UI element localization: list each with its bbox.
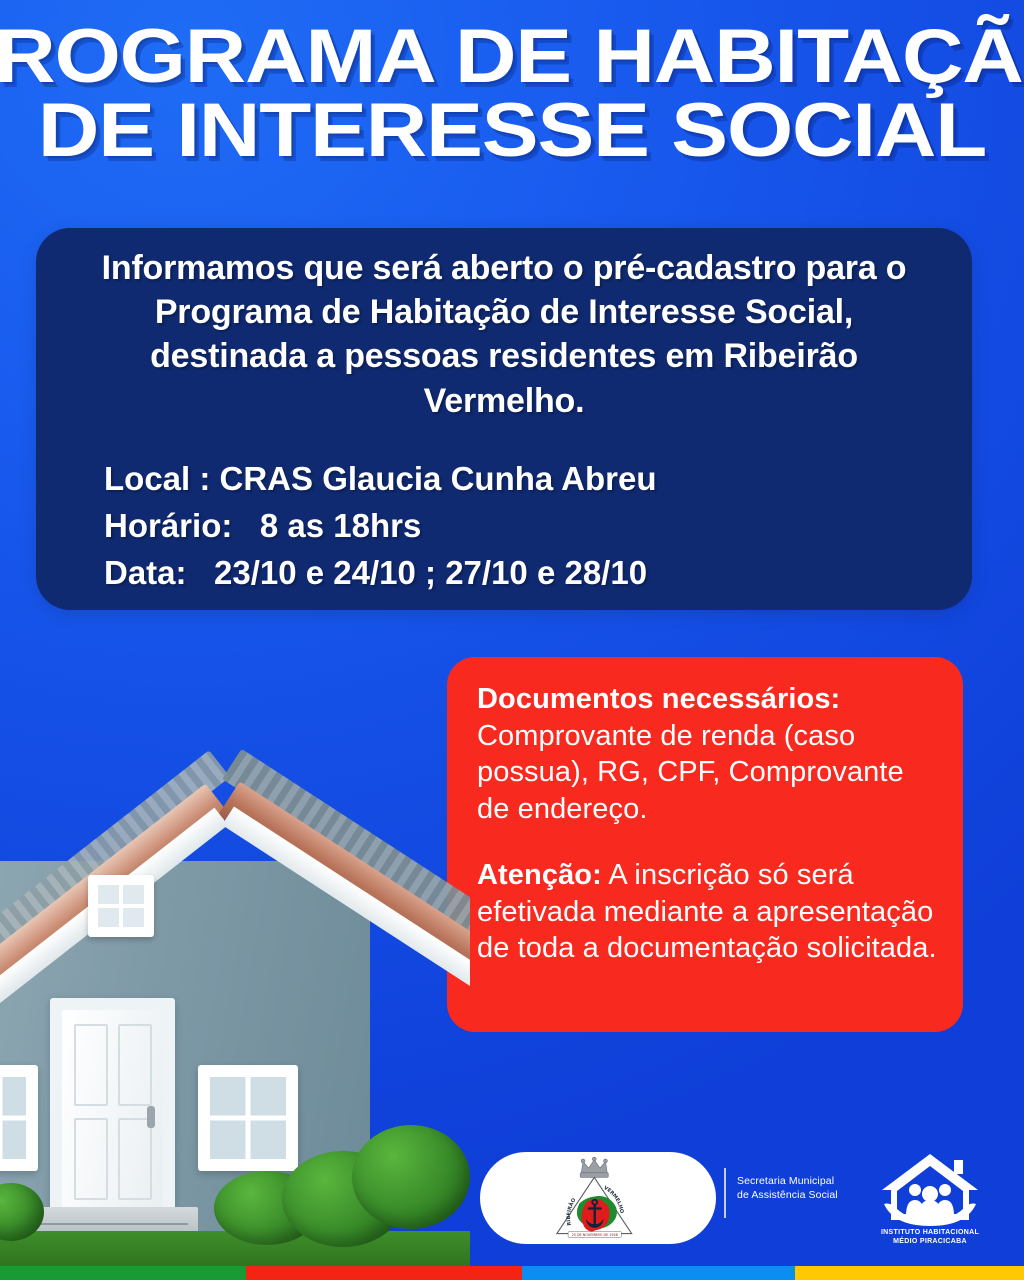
notice-detail-local: Local : CRAS Glaucia Cunha Abreu bbox=[104, 456, 944, 503]
documents-card-content: Documentos necessários: Comprovante de r… bbox=[477, 681, 939, 967]
attention-heading: Atenção: bbox=[477, 859, 602, 891]
documents-card: Documentos necessários: Comprovante de r… bbox=[447, 657, 963, 1032]
instituto-line-2: MÉDIO PIRACICABA bbox=[866, 1237, 994, 1246]
coat-of-arms-date: 25 DE NOVEMBRO DE 1948 bbox=[572, 1233, 618, 1237]
notice-details: Local : CRAS Glaucia Cunha Abreu Horário… bbox=[104, 456, 944, 597]
color-strip-segment-green bbox=[0, 1266, 246, 1280]
secretaria-line-1: Secretaria Municipal bbox=[737, 1174, 887, 1188]
footer-divider bbox=[724, 1168, 726, 1218]
door-handle-icon bbox=[147, 1106, 155, 1128]
color-strip-segment-yellow bbox=[795, 1266, 1024, 1280]
notice-detail-horario: Horário: 8 as 18hrs bbox=[104, 503, 944, 550]
notice-card: Informamos que será aberto o pré-cadastr… bbox=[36, 228, 972, 610]
footer-logos: 25 DE NOVEMBRO DE 1948 RIBEIRÃO VERMELHO… bbox=[0, 1144, 1024, 1264]
house-family-icon bbox=[866, 1146, 994, 1230]
instituto-caption: INSTITUTO HABITACIONAL MÉDIO PIRACICABA bbox=[866, 1228, 994, 1247]
attention-block: Atenção: A inscrição só será efetivada m… bbox=[477, 857, 939, 967]
notice-intro-text: Informamos que será aberto o pré-cadastr… bbox=[76, 246, 932, 423]
coat-of-arms-badge: 25 DE NOVEMBRO DE 1948 RIBEIRÃO VERMELHO bbox=[480, 1152, 716, 1244]
coat-of-arms-text-left: RIBEIRÃO bbox=[566, 1197, 578, 1226]
instituto-habitacional-logo: INSTITUTO HABITACIONAL MÉDIO PIRACICABA bbox=[866, 1146, 994, 1254]
instituto-line-1: INSTITUTO HABITACIONAL bbox=[866, 1228, 994, 1237]
documents-heading: Documentos necessários: bbox=[477, 683, 840, 715]
color-strip-segment-blue bbox=[522, 1266, 794, 1280]
page-title: PROGRAMA DE HABITAÇÃO DE INTERESSE SOCIA… bbox=[0, 22, 1024, 166]
poster-canvas: PROGRAMA DE HABITAÇÃO DE INTERESSE SOCIA… bbox=[0, 0, 1024, 1280]
title-line-1: PROGRAMA DE HABITAÇÃO bbox=[0, 22, 1024, 92]
secretaria-line-2: de Assistência Social bbox=[737, 1188, 887, 1202]
color-strip bbox=[0, 1266, 1024, 1280]
secretaria-label: Secretaria Municipal de Assistência Soci… bbox=[737, 1174, 887, 1202]
notice-detail-data: Data: 23/10 e 24/10 ; 27/10 e 28/10 bbox=[104, 550, 944, 597]
door-panel bbox=[74, 1024, 108, 1106]
documents-block: Documentos necessários: Comprovante de r… bbox=[477, 681, 939, 827]
coat-of-arms-icon: 25 DE NOVEMBRO DE 1948 RIBEIRÃO VERMELHO bbox=[550, 1155, 646, 1241]
documents-body: Comprovante de renda (caso possua), RG, … bbox=[477, 720, 904, 825]
door-panel bbox=[118, 1024, 152, 1106]
color-strip-segment-red bbox=[246, 1266, 522, 1280]
house-roof bbox=[0, 625, 470, 775]
attic-window-pane bbox=[95, 882, 147, 930]
attic-window bbox=[88, 875, 154, 937]
svg-text:RIBEIRÃO: RIBEIRÃO bbox=[566, 1197, 578, 1226]
title-line-2: DE INTERESSE SOCIAL bbox=[0, 96, 1024, 166]
